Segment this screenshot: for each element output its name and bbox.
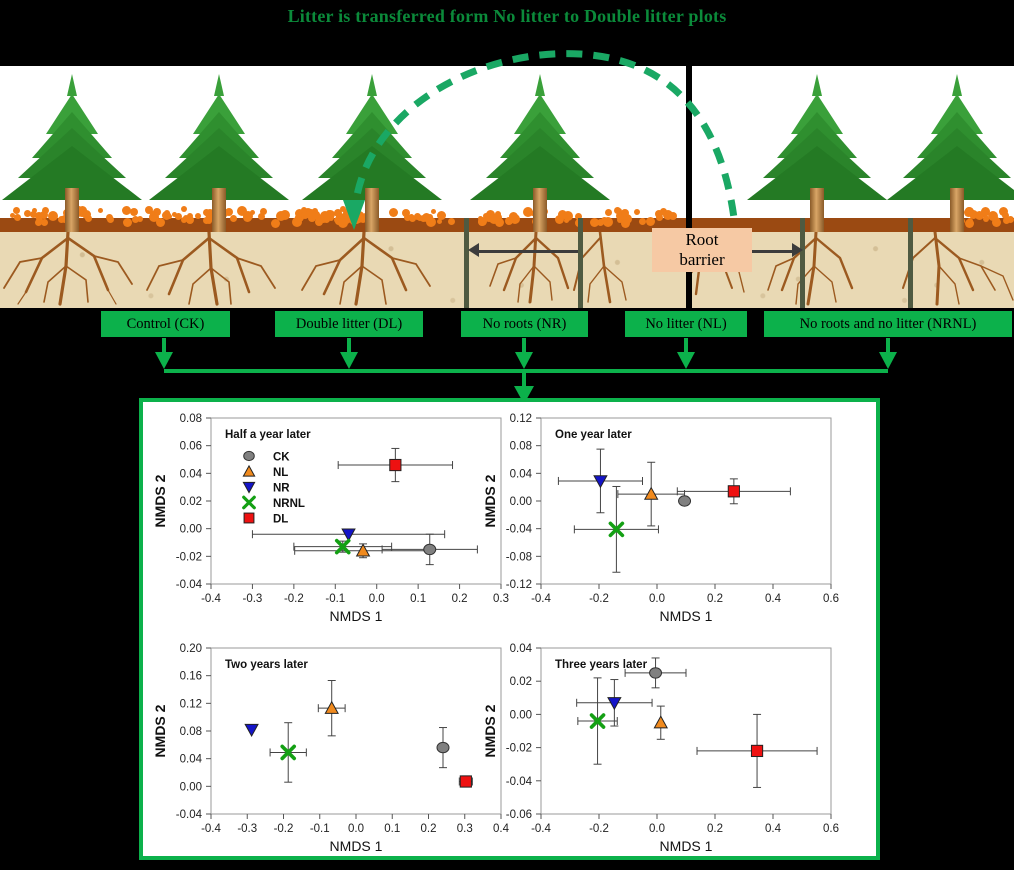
x-tick-label: -0.1 <box>310 823 330 835</box>
x-tick-label: 0.2 <box>452 593 468 605</box>
x-tick-label: -0.3 <box>243 593 263 605</box>
barrier-arrow-left <box>468 243 479 257</box>
root-barrier-panel-2 <box>578 218 583 308</box>
x-tick-label: 0.2 <box>421 823 437 835</box>
y-tick-label: 0.16 <box>180 671 202 683</box>
legend-label-nr: NR <box>273 483 290 495</box>
marker-ck <box>679 496 691 506</box>
y-tick-label: 0.20 <box>180 643 202 655</box>
legend-label-nl: NL <box>273 467 288 479</box>
root-system-nl <box>740 232 890 308</box>
y-tick-label: 0.04 <box>180 468 203 480</box>
y-tick-label: 0.02 <box>180 496 202 508</box>
legend-label-ck: CK <box>273 452 290 464</box>
root-system-ck-b <box>137 232 287 308</box>
tree-nl <box>742 72 892 232</box>
y-tick-label: -0.04 <box>176 579 203 591</box>
y-tick-label: 0.02 <box>510 676 532 688</box>
y-tick-label: 0.04 <box>510 468 533 480</box>
y-axis-title: NMDS 2 <box>152 474 168 527</box>
y-axis-title: NMDS 2 <box>152 704 168 757</box>
x-axis-title: NMDS 1 <box>660 838 713 854</box>
x-tick-label: -0.4 <box>531 593 551 605</box>
x-tick-label: 0.0 <box>369 593 385 605</box>
x-tick-label: -0.3 <box>237 823 257 835</box>
y-tick-label: -0.12 <box>506 579 532 591</box>
barrier-arrow-right <box>792 243 803 257</box>
root-barrier-label: Root barrier <box>652 228 752 272</box>
x-tick-label: 0.3 <box>457 823 473 835</box>
figure-title: Litter is transferred form No litter to … <box>0 4 1014 29</box>
tree-nr <box>465 72 615 232</box>
x-tick-label: 0.4 <box>765 593 782 605</box>
marker-ck <box>650 668 662 678</box>
y-tick-label: 0.08 <box>510 441 532 453</box>
plot-frame <box>211 418 501 584</box>
x-tick-label: -0.1 <box>325 593 345 605</box>
treatment-label-no-litter[interactable]: No litter (NL) <box>625 311 747 337</box>
y-axis-title: NMDS 2 <box>482 474 498 527</box>
plot-scene-left <box>0 66 686 308</box>
x-tick-label: 0.0 <box>348 823 364 835</box>
tree-ck-b <box>144 72 294 232</box>
x-tick-label: -0.2 <box>274 823 294 835</box>
marker-dl <box>460 776 471 787</box>
root-barrier-panel-1 <box>464 218 469 308</box>
x-tick-label: 0.0 <box>649 823 665 835</box>
x-tick-label: 0.4 <box>765 823 782 835</box>
x-axis-title: NMDS 1 <box>330 608 383 624</box>
root-system-dl <box>290 232 440 308</box>
y-axis-title: NMDS 2 <box>482 704 498 757</box>
y-tick-label: 0.00 <box>180 781 202 793</box>
y-tick-label: 0.08 <box>180 726 202 738</box>
panel-title: One year later <box>555 429 632 441</box>
panel-title: Half a year later <box>225 429 311 441</box>
y-tick-label: 0.12 <box>180 698 202 710</box>
x-tick-label: 0.2 <box>707 593 723 605</box>
panel-three-years[interactable]: -0.4-0.20.00.20.40.6-0.06-0.04-0.020.000… <box>479 634 839 862</box>
y-tick-label: -0.02 <box>176 551 202 563</box>
x-axis-title: NMDS 1 <box>660 608 713 624</box>
marker-ck <box>424 544 436 554</box>
x-tick-label: -0.4 <box>201 823 221 835</box>
x-tick-label: -0.4 <box>201 593 221 605</box>
panel-two-years[interactable]: -0.4-0.3-0.2-0.10.00.10.20.30.4-0.040.00… <box>149 634 509 862</box>
y-tick-label: 0.08 <box>180 413 202 425</box>
marker-dl <box>244 513 254 523</box>
legend-label-dl: DL <box>273 514 288 526</box>
y-tick-label: -0.04 <box>506 524 533 536</box>
tree-ck-a <box>0 72 147 232</box>
y-tick-label: 0.00 <box>510 709 532 721</box>
y-tick-label: 0.04 <box>180 754 203 766</box>
y-tick-label: -0.06 <box>506 809 532 821</box>
y-tick-label: -0.08 <box>506 551 532 563</box>
panel-title: Three years later <box>555 659 648 671</box>
nmds-chart-container: -0.4-0.3-0.2-0.10.00.10.20.3-0.04-0.020.… <box>139 398 880 860</box>
root-system-ck-a <box>0 232 140 308</box>
marker-ck <box>244 451 255 460</box>
x-tick-label: -0.2 <box>284 593 304 605</box>
legend-label-nrnl: NRNL <box>273 498 305 510</box>
tree-nrnl <box>882 72 1014 232</box>
panel-half-a-year[interactable]: -0.4-0.3-0.2-0.10.00.10.20.3-0.04-0.020.… <box>149 404 509 632</box>
root-system-nrnl <box>877 232 1014 308</box>
panel-title: Two years later <box>225 659 308 671</box>
x-tick-label: -0.4 <box>531 823 551 835</box>
marker-dl <box>390 459 401 470</box>
x-tick-label: 0.6 <box>823 823 839 835</box>
treatment-label-double-litter[interactable]: Double litter (DL) <box>275 311 423 337</box>
root-barrier-label-line1: Root <box>658 230 746 250</box>
x-tick-label: 0.1 <box>410 593 426 605</box>
x-tick-label: 0.0 <box>649 593 665 605</box>
root-barrier-label-line2: barrier <box>658 250 746 270</box>
marker-dl <box>751 745 762 756</box>
y-tick-label: -0.04 <box>506 776 533 788</box>
x-tick-label: 0.1 <box>384 823 400 835</box>
y-tick-label: -0.04 <box>176 809 203 821</box>
root-barrier-panel-4 <box>908 218 913 308</box>
x-tick-label: 0.2 <box>707 823 723 835</box>
treatment-label-no-roots[interactable]: No roots (NR) <box>461 311 588 337</box>
treatment-label-control[interactable]: Control (CK) <box>101 311 230 337</box>
panel-one-year[interactable]: -0.4-0.20.00.20.40.6-0.12-0.08-0.040.000… <box>479 404 839 632</box>
marker-ck <box>437 742 449 752</box>
treatment-label-no-roots-no-litter[interactable]: No roots and no litter (NRNL) <box>764 311 1012 337</box>
y-tick-label: 0.12 <box>510 413 532 425</box>
root-barrier-panel-3 <box>800 218 805 308</box>
y-tick-label: 0.06 <box>180 441 202 453</box>
x-tick-label: 0.6 <box>823 593 839 605</box>
barrier-span-line-left <box>474 250 578 253</box>
y-tick-label: -0.02 <box>506 743 532 755</box>
x-axis-title: NMDS 1 <box>330 838 383 854</box>
y-tick-label: 0.04 <box>510 643 533 655</box>
y-tick-label: 0.00 <box>510 496 532 508</box>
marker-dl <box>728 486 739 497</box>
tree-dl <box>297 72 447 232</box>
y-tick-label: 0.00 <box>180 524 202 536</box>
x-tick-label: -0.2 <box>589 593 609 605</box>
x-tick-label: -0.2 <box>589 823 609 835</box>
